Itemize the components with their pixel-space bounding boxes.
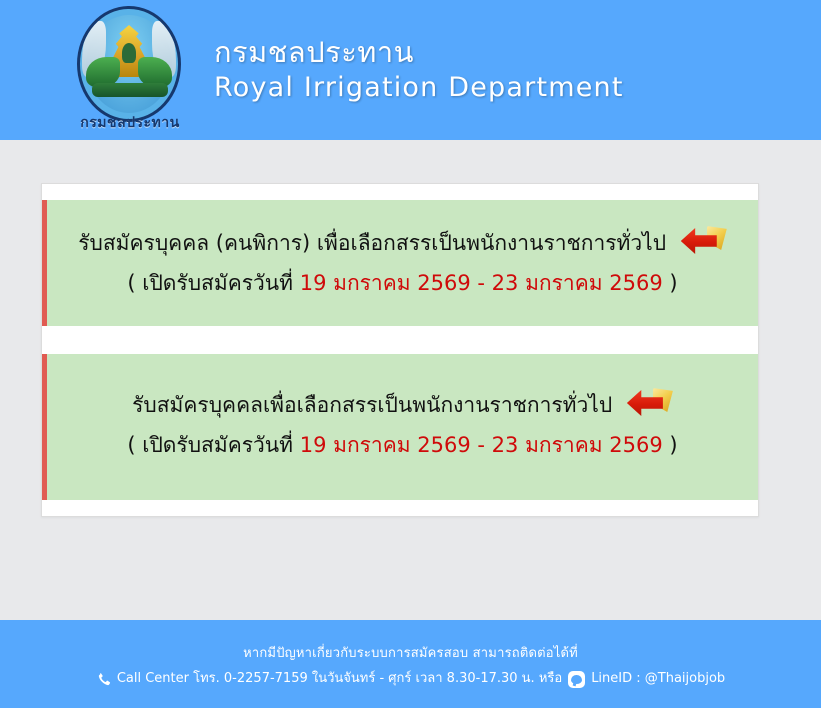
announcement-period-row: ( เปิดรับสมัครวันที่ 19 มกราคม 2569 - 23… [65,428,740,462]
red-arrow-icon [627,388,673,418]
site-header: กรมชลประทาน กรมชลประทาน Royal Irrigation… [0,0,821,140]
announcement-title: รับสมัครบุคคลเพื่อเลือกสรรเป็นพนักงานราช… [132,393,612,417]
announcement-item[interactable]: รับสมัครบุคคล (คนพิการ) เพื่อเลือกสรรเป็… [42,200,758,326]
emblem-base [92,83,168,97]
announcement-title-row: รับสมัครบุคคล (คนพิการ) เพื่อเลือกสรรเป็… [65,226,740,260]
announcement-date-range: 19 มกราคม 2569 - 23 มกราคม 2569 [300,433,663,457]
phone-icon [96,672,111,687]
logo-wrap: กรมชลประทาน [62,4,196,136]
footer-help-text: หากมีปัญหาเกี่ยวกับระบบการสมัครสอบ สามาร… [0,644,821,664]
announcement-period-suffix: ) [669,433,677,457]
announcement-period-suffix: ) [669,271,677,295]
red-arrow-icon [681,226,727,256]
header-titles: กรมชลประทาน Royal Irrigation Department [214,34,624,106]
announcement-panel: รับสมัครบุคคล (คนพิการ) เพื่อเลือกสรรเป็… [41,183,759,517]
announcement-item[interactable]: รับสมัครบุคคลเพื่อเลือกสรรเป็นพนักงานราช… [42,354,758,500]
announcement-period-prefix: ( เปิดรับสมัครวันที่ [127,433,293,457]
main-content-area: รับสมัครบุคคล (คนพิการ) เพื่อเลือกสรรเป็… [0,140,821,620]
line-app-icon[interactable] [568,671,585,688]
emblem-figure [122,43,136,63]
emblem-caption: กรมชลประทาน [70,112,190,134]
line-bubble [571,675,582,684]
footer-contact-row: Call Center โทร. 0-2257-7159 ในวันจันทร์… [0,669,821,689]
announcement-period-prefix: ( เปิดรับสมัครวันที่ [127,271,293,295]
announcement-period-row: ( เปิดรับสมัครวันที่ 19 มกราคม 2569 - 23… [65,266,740,300]
call-center-text: Call Center โทร. 0-2257-7159 ในวันจันทร์… [117,669,562,689]
announcement-date-range: 19 มกราคม 2569 - 23 มกราคม 2569 [300,271,663,295]
announcement-title: รับสมัครบุคคล (คนพิการ) เพื่อเลือกสรรเป็… [78,231,666,255]
line-id-text: LineID : @Thaijobjob [591,669,725,689]
header-title-thai: กรมชลประทาน [214,34,624,70]
announcement-title-row: รับสมัครบุคคลเพื่อเลือกสรรเป็นพนักงานราช… [65,388,740,422]
site-footer: หากมีปัญหาเกี่ยวกับระบบการสมัครสอบ สามาร… [0,620,821,708]
header-title-english: Royal Irrigation Department [214,70,624,106]
royal-irrigation-department-emblem-icon [77,6,181,122]
